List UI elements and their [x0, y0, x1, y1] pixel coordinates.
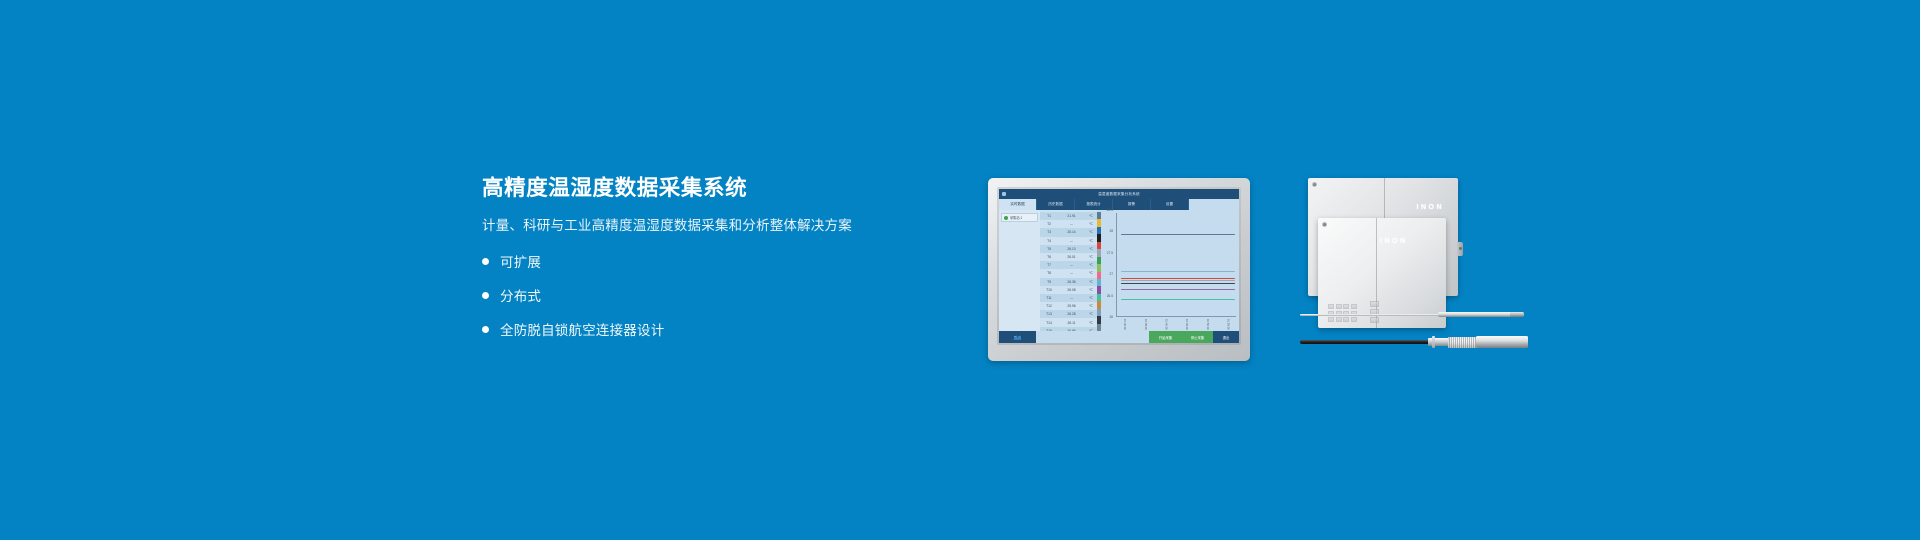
probe-knurled-nut: [1448, 337, 1478, 348]
x-axis-tick-label: 10:50:00: [1206, 319, 1210, 330]
cell-unit: ℃: [1086, 312, 1096, 316]
app-bottom-toolbar: 导出 开始采集 停止采集 退出: [999, 331, 1239, 343]
port: [1370, 301, 1379, 307]
port: [1370, 317, 1379, 323]
y-axis-tick-label: 26: [1109, 315, 1113, 319]
cell-channel: T2: [1041, 222, 1057, 226]
cell-channel: T9: [1041, 280, 1057, 284]
table-row[interactable]: T1326.28℃: [1040, 310, 1097, 318]
table-row[interactable]: T4---℃: [1040, 237, 1097, 245]
enclosure-connector-port: [1457, 242, 1463, 256]
cell-value: 26.08: [1057, 288, 1086, 292]
cell-value: 26.36: [1057, 280, 1086, 284]
cell-channel: T1: [1041, 214, 1057, 218]
table-row[interactable]: T7---℃: [1040, 261, 1097, 269]
monitor-device: 温湿度数据采集分析系统 实时数据 历史数据 报表统计 报警 设置 采集站-1: [988, 178, 1250, 361]
chart-x-axis: 10:30:0010:35:0010:40:0010:45:0010:50:00…: [1116, 318, 1236, 331]
monitor-screen: 温湿度数据采集分析系统 实时数据 历史数据 报表统计 报警 设置 采集站-1: [999, 189, 1239, 343]
probe-shaft: [1300, 314, 1442, 316]
probe-cable: [1300, 340, 1432, 344]
table-row[interactable]: T2---℃: [1040, 220, 1097, 228]
app-titlebar: 温湿度数据采集分析系统: [999, 189, 1239, 199]
table-row[interactable]: T526.13℃: [1040, 245, 1097, 253]
chart-series-line: [1121, 271, 1235, 272]
page-subtitle: 计量、科研与工业高精度温湿度数据采集和分析整体解决方案: [482, 217, 952, 235]
table-row[interactable]: T1426.11℃: [1040, 318, 1097, 326]
list-item: 可扩展: [482, 251, 952, 271]
cell-value: 26.01: [1057, 255, 1086, 259]
cell-value: ---: [1057, 239, 1086, 243]
cell-channel: T5: [1041, 247, 1057, 251]
cell-value: 26.28: [1057, 312, 1086, 316]
humidity-probe-cable: [1300, 336, 1528, 348]
app-window-title: 温湿度数据采集分析系统: [1098, 192, 1140, 197]
cell-unit: ℃: [1086, 247, 1096, 251]
y-axis-tick-label: 28: [1109, 229, 1113, 233]
terminal: [1336, 304, 1342, 309]
terminal: [1336, 317, 1342, 322]
status-online-icon: [1004, 216, 1008, 220]
chart-series-line: [1121, 283, 1235, 284]
cell-channel: T6: [1041, 255, 1057, 259]
x-axis-tick-label: 10:45:00: [1185, 319, 1189, 330]
feature-list: 可扩展 分布式 全防脱自锁航空连接器设计: [482, 251, 952, 339]
temperature-probe: [1300, 312, 1524, 317]
x-axis-tick-label: 10:55:00: [1226, 319, 1230, 330]
toolbar-spacer: [1036, 331, 1149, 343]
menu-icon[interactable]: [1002, 192, 1006, 196]
cell-value: ---: [1057, 271, 1086, 275]
hardware-devices-group: INON INON: [1300, 172, 1530, 362]
y-axis-tick-label: 27.5: [1107, 251, 1113, 255]
page-title: 高精度温湿度数据采集系统: [482, 176, 952, 202]
cell-value: 26.11: [1057, 321, 1086, 325]
cell-value: 21.91: [1057, 214, 1086, 218]
tab-realtime-data[interactable]: 实时数据: [999, 199, 1037, 210]
cell-channel: T13: [1041, 312, 1057, 316]
terminal: [1328, 317, 1334, 322]
tree-item-station-1[interactable]: 采集站-1: [1001, 213, 1038, 222]
app-tabbar: 实时数据 历史数据 报表统计 报警 设置: [999, 199, 1239, 210]
chart-series-line: [1121, 278, 1235, 279]
y-axis-tick-label: 26.5: [1107, 294, 1113, 298]
chart-series-line: [1121, 299, 1235, 300]
cell-channel: T14: [1041, 321, 1057, 325]
cell-channel: T3: [1041, 230, 1057, 234]
export-button[interactable]: 导出: [999, 331, 1036, 343]
chart-series-line: [1121, 289, 1235, 290]
y-axis-tick-label: 27: [1109, 272, 1113, 276]
cell-unit: ℃: [1086, 321, 1096, 325]
table-row[interactable]: T11---℃: [1040, 294, 1097, 302]
terminal: [1351, 317, 1357, 322]
list-item: 全防脱自锁航空连接器设计: [482, 319, 952, 339]
x-axis-tick-label: 10:30:00: [1123, 319, 1127, 330]
chart-y-axis: 28.52827.52726.526: [1101, 210, 1115, 317]
bullet-dot-icon: [482, 326, 489, 333]
cell-unit: ℃: [1086, 271, 1096, 275]
probe-ferrule: [1428, 338, 1450, 346]
table-row[interactable]: T121.91℃: [1040, 212, 1097, 220]
monitor-bezel: 温湿度数据采集分析系统 实时数据 历史数据 报表统计 报警 设置 采集站-1: [988, 178, 1250, 361]
cell-value: ---: [1057, 296, 1086, 300]
cell-unit: ℃: [1086, 239, 1096, 243]
tab-history-data[interactable]: 历史数据: [1037, 199, 1075, 210]
tabbar-filler: [1189, 199, 1239, 210]
cell-value: 25.96: [1057, 304, 1086, 308]
tree-item-label: 采集站-1: [1010, 215, 1022, 220]
probe-cap: [1510, 312, 1524, 316]
app-body: 采集站-1 T121.91℃T2---℃T326.14℃T4---℃T526.1…: [999, 210, 1239, 331]
bullet-dot-icon: [482, 292, 489, 299]
start-acquisition-button[interactable]: 开始采集: [1149, 331, 1182, 343]
cell-unit: ℃: [1086, 230, 1096, 234]
feature-label: 可扩展: [500, 251, 541, 271]
table-row[interactable]: T926.36℃: [1040, 278, 1097, 286]
terminal: [1351, 304, 1357, 309]
chart-series-line: [1121, 234, 1235, 235]
tab-settings[interactable]: 设置: [1151, 199, 1189, 210]
probe-sleeve: [1438, 312, 1524, 317]
x-axis-tick-label: 10:40:00: [1164, 319, 1168, 330]
brand-label: INON: [1380, 238, 1408, 245]
cell-unit: ℃: [1086, 263, 1096, 267]
cell-unit: ℃: [1086, 255, 1096, 259]
bullet-dot-icon: [482, 258, 489, 265]
tab-alarm[interactable]: 报警: [1113, 199, 1151, 210]
device-tree-panel: 采集站-1: [999, 210, 1040, 331]
terminal: [1343, 304, 1349, 309]
cell-unit: ℃: [1086, 280, 1096, 284]
feature-label: 全防脱自锁航空连接器设计: [500, 319, 664, 339]
table-row[interactable]: T626.01℃: [1040, 253, 1097, 261]
hero-text-block: 高精度温湿度数据采集系统 计量、科研与工业高精度温湿度数据采集和分析整体解决方案…: [482, 176, 952, 353]
trend-chart[interactable]: 28.52827.52726.526 10:30:0010:35:0010:40…: [1101, 210, 1239, 331]
cell-unit: ℃: [1086, 296, 1096, 300]
cell-channel: T8: [1041, 271, 1057, 275]
brand-label: INON: [1417, 204, 1445, 211]
exit-button[interactable]: 退出: [1213, 331, 1239, 343]
stop-acquisition-button[interactable]: 停止采集: [1182, 331, 1213, 343]
table-row[interactable]: T1026.08℃: [1040, 286, 1097, 294]
cell-channel: T7: [1041, 263, 1057, 267]
chart-plot-area: [1116, 213, 1236, 317]
cell-value: 26.14: [1057, 230, 1086, 234]
cell-channel: T12: [1041, 304, 1057, 308]
monitor-inner-frame: 温湿度数据采集分析系统 实时数据 历史数据 报表统计 报警 设置 采集站-1: [997, 187, 1241, 345]
chart-series-line: [1121, 280, 1235, 281]
feature-label: 分布式: [500, 285, 541, 305]
cell-channel: T11: [1041, 296, 1057, 300]
cell-value: 26.13: [1057, 247, 1086, 251]
screw-icon: [1322, 222, 1327, 227]
cell-unit: ℃: [1086, 304, 1096, 308]
probe-barrel: [1476, 336, 1528, 348]
screw-icon: [1312, 182, 1317, 187]
terminal: [1328, 304, 1334, 309]
channel-table[interactable]: T121.91℃T2---℃T326.14℃T4---℃T526.13℃T626…: [1040, 210, 1097, 331]
y-axis-tick-label: 28.5: [1107, 208, 1113, 212]
list-item: 分布式: [482, 285, 952, 305]
cell-channel: T10: [1041, 288, 1057, 292]
table-row[interactable]: T326.14℃: [1040, 228, 1097, 236]
table-row[interactable]: T1225.96℃: [1040, 302, 1097, 310]
cell-unit: ℃: [1086, 214, 1096, 218]
cell-value: ---: [1057, 263, 1086, 267]
cell-unit: ℃: [1086, 222, 1096, 226]
x-axis-tick-label: 10:35:00: [1144, 319, 1148, 330]
terminal: [1343, 317, 1349, 322]
cell-unit: ℃: [1086, 288, 1096, 292]
table-row[interactable]: T8---℃: [1040, 269, 1097, 277]
cell-channel: T4: [1041, 239, 1057, 243]
cell-value: ---: [1057, 222, 1086, 226]
